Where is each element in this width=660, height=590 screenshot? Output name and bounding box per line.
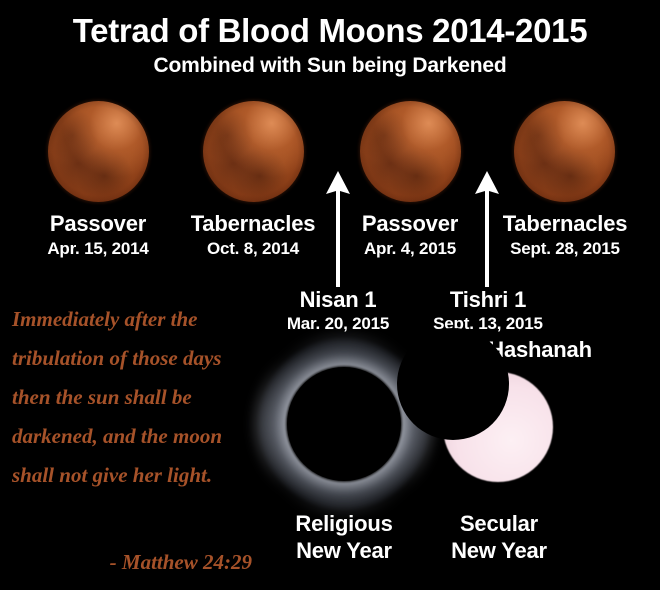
blood-moon-image-4	[514, 101, 615, 202]
moon-feast-label-4: Tabernacles	[481, 212, 649, 237]
page-title: Tetrad of Blood Moons 2014-2015	[0, 14, 660, 49]
scripture-line-3: then the sun shall be	[12, 378, 260, 417]
blood-moon-image-1	[48, 101, 149, 202]
blood-moon-caption-2: Tabernacles Oct. 8, 2014	[169, 212, 337, 259]
eclipsing-moon-disk	[287, 367, 401, 481]
eclipse-caption-secular: Secular New Year	[404, 511, 594, 565]
new-year-date-tishri: Sept. 13, 2015	[398, 314, 578, 334]
blood-moon-caption-4: Tabernacles Sept. 28, 2015	[481, 212, 649, 259]
scripture-line-5: shall not give her light.	[12, 456, 260, 495]
eclipse-label-line-2-secular: New Year	[404, 538, 594, 565]
eclipsing-moon-occluder	[397, 328, 509, 440]
moon-feast-label-2: Tabernacles	[169, 212, 337, 237]
moon-date-label-4: Sept. 28, 2015	[481, 239, 649, 259]
blood-moon-image-3	[360, 101, 461, 202]
moon-date-label-3: Apr. 4, 2015	[326, 239, 494, 259]
up-arrow-icon-nisan	[325, 170, 351, 288]
moon-date-label-2: Oct. 8, 2014	[169, 239, 337, 259]
scripture-line-2: tribulation of those days	[12, 339, 260, 378]
scripture-attribution: - Matthew 24:29	[12, 550, 252, 575]
blood-moons-infographic: Tetrad of Blood Moons 2014-2015 Combined…	[0, 0, 660, 590]
moon-feast-label-1: Passover	[14, 212, 182, 237]
blood-moon-caption-3: Passover Apr. 4, 2015	[326, 212, 494, 259]
blood-moon-image-2	[203, 101, 304, 202]
scripture-line-4: darkened, and the moon	[12, 417, 260, 456]
page-subtitle: Combined with Sun being Darkened	[0, 54, 660, 78]
new-year-caption-tishri: Tishri 1 Sept. 13, 2015	[398, 288, 578, 335]
scripture-quote: Immediately after the tribulation of tho…	[12, 300, 260, 495]
partial-solar-eclipse-image	[443, 372, 553, 482]
scripture-line-1: Immediately after the	[12, 300, 260, 339]
new-year-name-tishri: Tishri 1	[398, 288, 578, 312]
blood-moon-caption-1: Passover Apr. 15, 2014	[14, 212, 182, 259]
up-arrow-icon-tishri	[474, 170, 500, 288]
moon-date-label-1: Apr. 15, 2014	[14, 239, 182, 259]
eclipse-label-line-1-secular: Secular	[404, 511, 594, 538]
moon-feast-label-3: Passover	[326, 212, 494, 237]
